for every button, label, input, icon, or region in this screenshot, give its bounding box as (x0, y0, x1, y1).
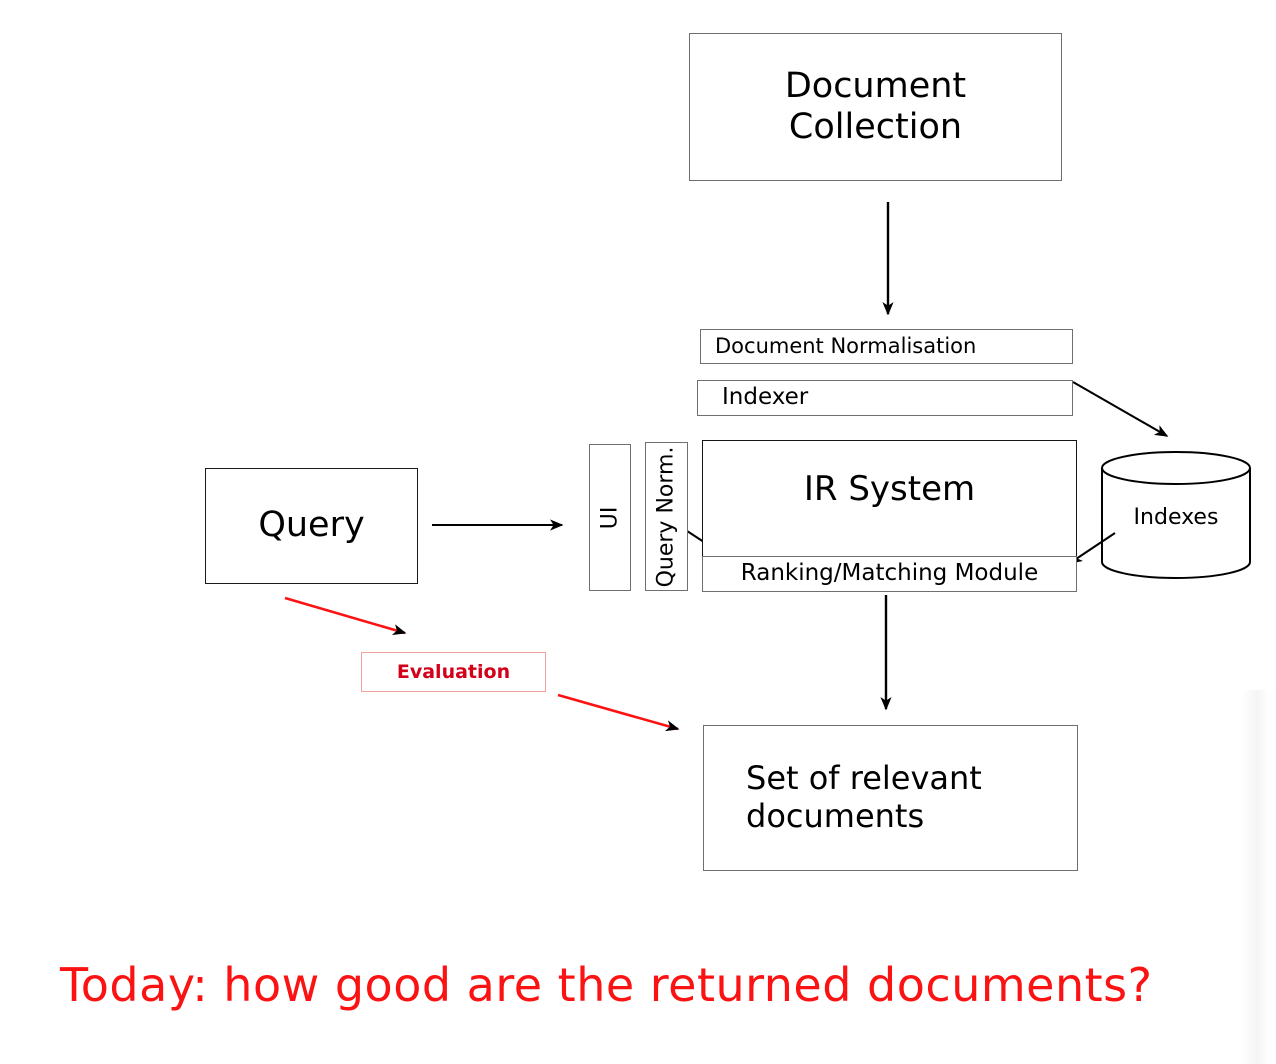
ranking-matching-module-label: Ranking/Matching Module (741, 560, 1038, 587)
node-indexer: Indexer (697, 380, 1073, 416)
node-ranking-matching-module: Ranking/Matching Module (702, 556, 1077, 592)
node-ui: UI (589, 444, 631, 591)
edge-evaluation-to-results (558, 695, 678, 729)
slide-canvas: Document Collection Document Normalisati… (0, 0, 1276, 1064)
node-ir-system: IR System Ranking/Matching Module (702, 440, 1077, 592)
evaluation-label: Evaluation (397, 661, 510, 683)
node-relevant-documents: Set of relevant documents (703, 725, 1078, 871)
edge-indexer-to-indexes (1073, 382, 1167, 436)
indexer-label: Indexer (722, 384, 808, 411)
query-normalisation-label: Query Norm. (654, 446, 680, 587)
node-query-normalisation: Query Norm. (645, 442, 688, 591)
document-normalisation-label: Document Normalisation (715, 334, 976, 359)
document-collection-label: Document Collection (785, 66, 966, 149)
ir-system-label: IR System (703, 469, 1076, 509)
indexes-label: Indexes (1100, 505, 1252, 530)
connector-layer (0, 0, 1276, 1064)
ui-label: UI (597, 506, 623, 529)
node-document-collection: Document Collection (689, 33, 1062, 181)
slide-edge-sheen (1242, 690, 1276, 1064)
query-label: Query (258, 505, 364, 546)
slide-caption: Today: how good are the returned documen… (60, 958, 1153, 1012)
node-query: Query (205, 468, 418, 584)
node-document-normalisation: Document Normalisation (700, 329, 1073, 364)
edge-query-to-evaluation (285, 598, 405, 633)
relevant-documents-label: Set of relevant documents (746, 760, 982, 836)
node-evaluation: Evaluation (361, 652, 546, 692)
